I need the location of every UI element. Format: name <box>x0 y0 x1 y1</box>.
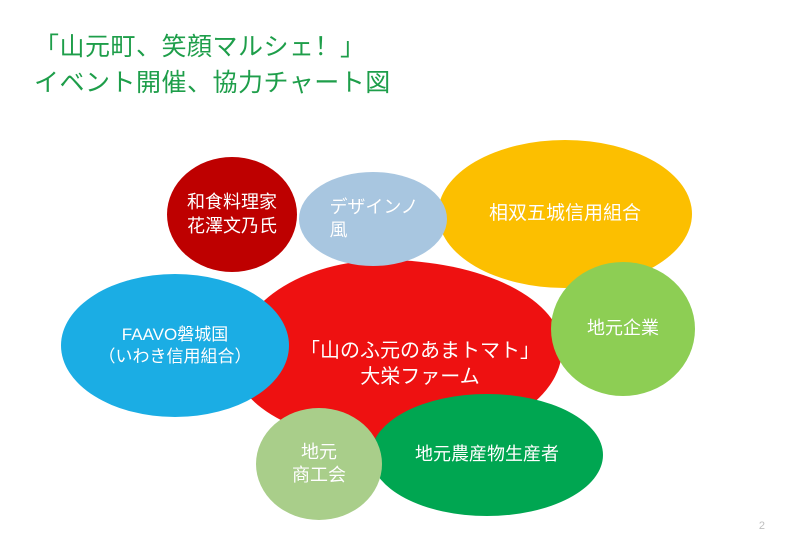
chart-node-label: 地元 商工会 <box>292 441 346 487</box>
chart-node-label: 「山のふ元のあまトマト」 大栄ファーム <box>300 339 540 390</box>
chart-node-label: デザインノ 風 <box>327 196 418 242</box>
chart-node-washoku-ryorika[interactable]: 和食料理家 花澤文乃氏 <box>167 157 297 272</box>
title-line-1: 「山元町、笑顔マルシェ！」 <box>34 30 391 66</box>
chart-node-jimoto-shokokai[interactable]: 地元 商工会 <box>256 408 382 520</box>
chart-node-label: 和食料理家 花澤文乃氏 <box>187 191 277 237</box>
collaboration-chart: 和食料理家 花澤文乃氏 デザインノ 風 相双五城信用組合 FAAVO磐城国 （い… <box>0 120 789 520</box>
chart-node-label: 地元農産物生産者 <box>415 443 559 466</box>
page-title: 「山元町、笑顔マルシェ！」 イベント開催、協力チャート図 <box>34 30 391 101</box>
title-line-2: イベント開催、協力チャート図 <box>34 66 391 102</box>
chart-node-jimoto-nosanbutsu-seisansha[interactable]: 地元農産物生産者 <box>371 394 603 516</box>
chart-node-label: 相双五城信用組合 <box>489 202 641 226</box>
chart-node-faavo-iwakinokuni[interactable]: FAAVO磐城国 （いわき信用組合） <box>61 274 289 417</box>
chart-node-soso-goshiro-shinyo-kumiai[interactable]: 相双五城信用組合 <box>438 140 692 288</box>
slide-canvas: 「山元町、笑顔マルシェ！」 イベント開催、協力チャート図 和食料理家 花澤文乃氏… <box>0 0 789 546</box>
chart-node-label: 地元企業 <box>587 317 659 340</box>
chart-node-label: FAAVO磐城国 （いわき信用組合） <box>99 324 252 368</box>
page-number: 2 <box>759 520 765 532</box>
chart-node-design-no-kaze[interactable]: デザインノ 風 <box>299 172 447 266</box>
chart-node-jimoto-kigyo[interactable]: 地元企業 <box>551 262 695 396</box>
